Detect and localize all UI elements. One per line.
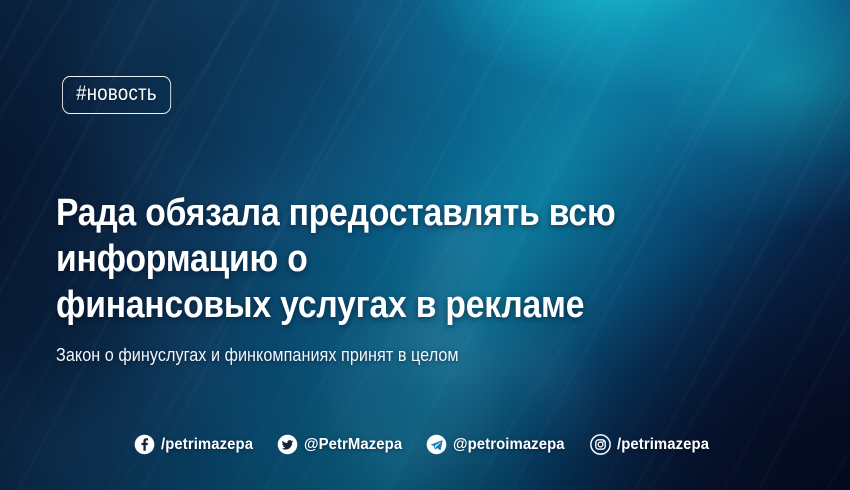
instagram-icon	[590, 434, 611, 455]
news-card: #новость Рада обязала предоставлять всю …	[0, 0, 850, 490]
social-links-bar: /petrimazepa @PetrMazepa @petroimazepa	[0, 434, 850, 455]
social-handle-telegram: @petroimazepa	[453, 436, 565, 454]
category-badge[interactable]: #новость	[62, 76, 171, 114]
card-content: #новость Рада обязала предоставлять всю …	[0, 0, 850, 490]
social-link-twitter[interactable]: @PetrMazepa	[277, 434, 410, 455]
telegram-icon	[426, 434, 447, 455]
social-handle-instagram: /petrimazepa	[617, 436, 709, 454]
subtitle: Закон о финуслугах и финкомпаниях принят…	[56, 345, 459, 366]
social-link-instagram[interactable]: /petrimazepa	[590, 434, 716, 455]
category-badge-label: #новость	[76, 82, 157, 106]
social-link-facebook[interactable]: /petrimazepa	[134, 434, 260, 455]
facebook-icon	[134, 434, 155, 455]
social-handle-facebook: /petrimazepa	[161, 436, 253, 454]
social-link-telegram[interactable]: @petroimazepa	[426, 434, 573, 455]
twitter-icon	[277, 434, 298, 455]
social-handle-twitter: @PetrMazepa	[304, 436, 402, 454]
page-title: Рада обязала предоставлять всю информаци…	[56, 190, 718, 328]
